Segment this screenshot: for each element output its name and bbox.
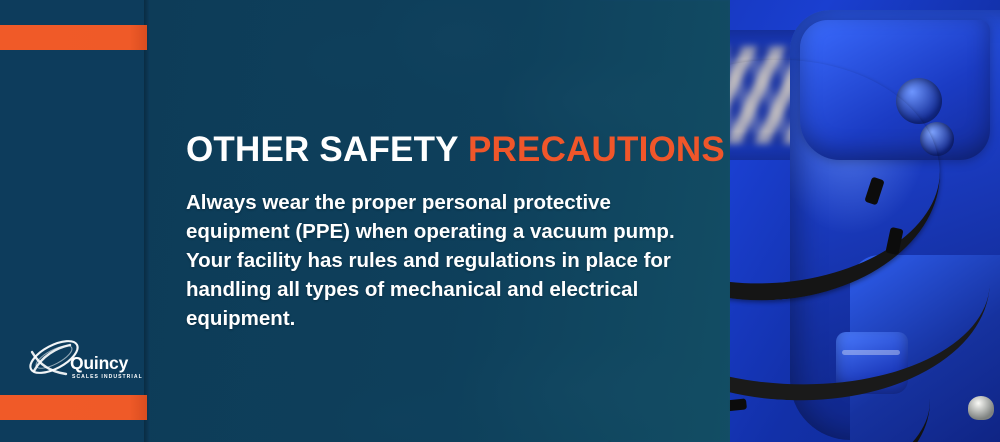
body-paragraph: Always wear the proper personal protecti… (186, 188, 696, 334)
brand-wordmark: Quincy (70, 353, 129, 373)
page-title: OTHER SAFETY PRECAUTIONS (186, 132, 726, 169)
slide-canvas: Quincy SCALES INDUSTRIAL OTHER SAFETY PR… (0, 0, 1000, 442)
brand-tagline: SCALES INDUSTRIAL (72, 374, 143, 380)
headline-main: OTHER SAFETY (186, 130, 458, 169)
headline-accent: PRECAUTIONS (468, 130, 725, 169)
quincy-logo: Quincy SCALES INDUSTRIAL (22, 338, 144, 386)
quincy-logo-svg: Quincy SCALES INDUSTRIAL (22, 338, 144, 386)
bottom-accent-bar (0, 395, 147, 420)
top-accent-bar (0, 25, 147, 50)
chrome-fitting-corner (968, 396, 994, 420)
text-content-block: OTHER SAFETY PRECAUTIONS Always wear the… (186, 132, 726, 333)
